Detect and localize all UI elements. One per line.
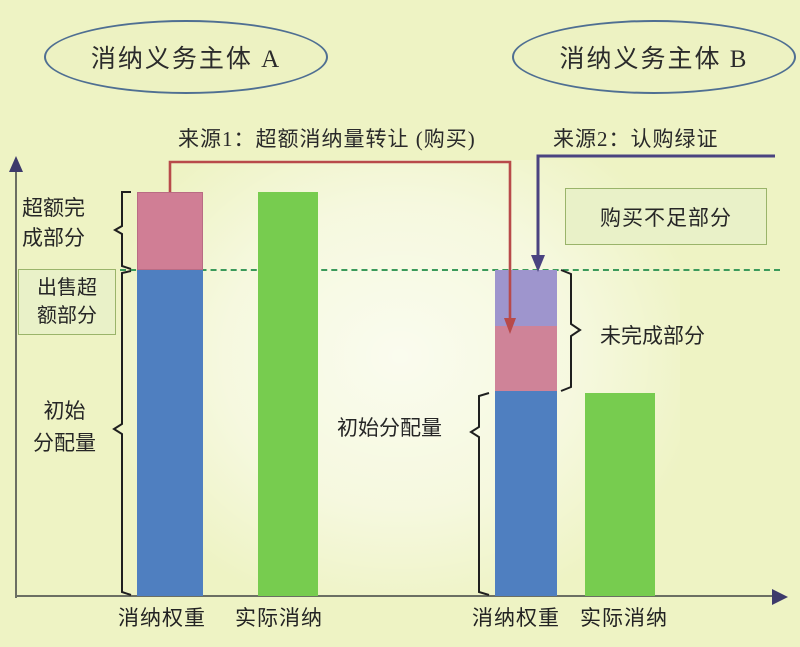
bar-a-excess-completed [137, 192, 203, 270]
bar-b-initial-allocation [495, 391, 557, 596]
label-initial-allocation-a-line1: 初始 [33, 395, 96, 427]
source1-label: 来源1：超额消纳量转让 (购买) [178, 123, 476, 153]
tick-label-a-weight: 消纳权重 [118, 602, 206, 632]
label-excess-completed: 超额完 成部分 [22, 193, 85, 253]
source2-label: 来源2：认购绿证 [553, 123, 719, 153]
label-initial-allocation-a: 初始 分配量 [33, 395, 96, 459]
label-uncompleted: 未完成部分 [600, 320, 705, 350]
label-initial-allocation-b: 初始分配量 [337, 412, 442, 442]
brace-initial-allocation-b [471, 393, 489, 595]
label-sold-excess-line2: 额部分 [37, 302, 97, 330]
source1-connector-line [170, 162, 510, 322]
tick-label-a-actual: 实际消纳 [235, 602, 323, 632]
label-initial-allocation-a-line2: 分配量 [33, 427, 96, 459]
label-excess-completed-line1: 超额完 [22, 193, 85, 223]
target-dashed-line [120, 269, 780, 271]
brace-initial-allocation-a [114, 271, 131, 595]
x-axis-arrow-icon [772, 589, 788, 605]
bar-a-initial-allocation [137, 270, 203, 596]
bar-a-actual-consumption [258, 192, 318, 596]
brace-excess-completed [115, 192, 131, 269]
label-excess-completed-line2: 成部分 [22, 223, 85, 253]
x-axis [16, 595, 778, 597]
entity-a-ellipse: 消纳义务主体 A [44, 20, 328, 94]
y-axis [15, 168, 17, 598]
tick-label-b-actual: 实际消纳 [580, 602, 668, 632]
label-buy-shortfall-box: 购买不足部分 [565, 188, 767, 245]
bar-b-purchased-transfer [495, 326, 557, 391]
bar-b-actual-consumption [585, 393, 655, 596]
entity-b-label: 消纳义务主体 B [560, 39, 749, 75]
brace-uncompleted [561, 270, 580, 391]
entity-b-ellipse: 消纳义务主体 B [512, 20, 796, 94]
y-axis-arrow-icon [9, 156, 23, 172]
tick-label-b-weight: 消纳权重 [472, 602, 560, 632]
bar-b-green-certificate [495, 270, 557, 326]
label-sold-excess-line1: 出售超 [37, 274, 97, 302]
entity-a-label: 消纳义务主体 A [91, 39, 281, 75]
label-sold-excess-box: 出售超 额部分 [18, 269, 116, 335]
